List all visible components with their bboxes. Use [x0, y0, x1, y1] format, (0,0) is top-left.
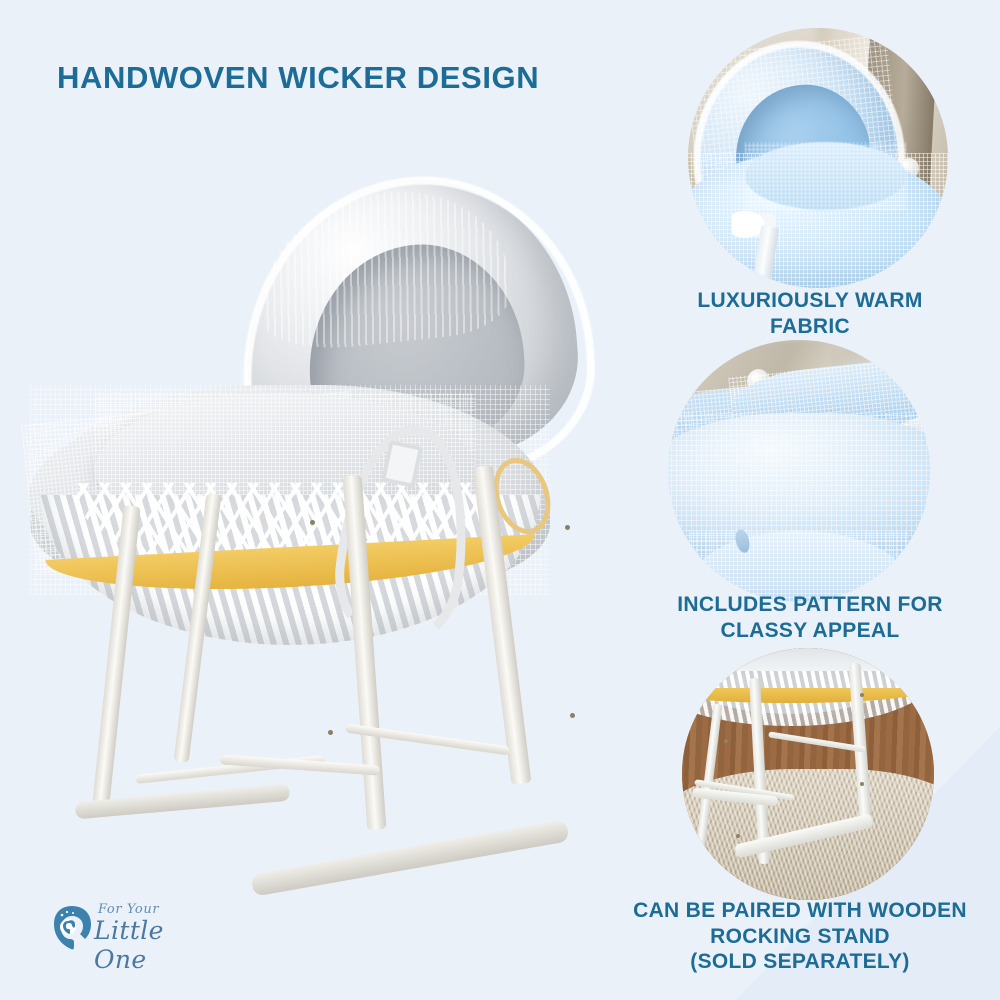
hero-product-image: [40, 175, 600, 975]
logo-line-2: Little One: [94, 916, 210, 974]
feature-fabric-caption-line2: FABRIC: [620, 314, 1000, 340]
feature-stand-caption: CAN BE PAIRED WITH WOODEN ROCKING STAND …: [600, 898, 1000, 975]
feature-stand-image: [682, 648, 934, 900]
hero-screw-4: [570, 713, 575, 718]
brand-logo[interactable]: For Your Little One: [50, 900, 210, 956]
feature-pattern-caption: INCLUDES PATTERN FOR CLASSY APPEAL: [620, 592, 1000, 643]
feature-pattern-caption-line1: INCLUDES PATTERN FOR: [620, 592, 1000, 618]
feature-stand-caption-line1: CAN BE PAIRED WITH WOODEN: [600, 898, 1000, 924]
hero-screw-2: [328, 730, 333, 735]
stand-screw-3: [724, 739, 728, 743]
feature-stand-caption-line3: (SOLD SEPARATELY): [600, 949, 1000, 975]
feature-stand-caption-line2: ROCKING STAND: [600, 924, 1000, 950]
logo-line-1: For Your: [98, 902, 159, 917]
feature-fabric-caption-line1: LUXURIOUSLY WARM: [620, 288, 1000, 314]
mother-and-child-icon: [50, 904, 94, 952]
feature-pattern-image: [668, 340, 930, 602]
stand-screw-2: [860, 782, 864, 786]
hero-rocker-runner-right: [251, 819, 570, 896]
feature-pattern-caption-line2: CLASSY APPEAL: [620, 618, 1000, 644]
hero-screw-3: [565, 525, 570, 530]
infographic-canvas: HANDWOVEN WICKER DESIGN: [0, 0, 1000, 1000]
feature-fabric-caption: LUXURIOUSLY WARM FABRIC: [620, 288, 1000, 339]
page-title: HANDWOVEN WICKER DESIGN: [57, 60, 539, 96]
hero-screw-1: [310, 520, 315, 525]
feature-fabric-image: [688, 28, 948, 288]
